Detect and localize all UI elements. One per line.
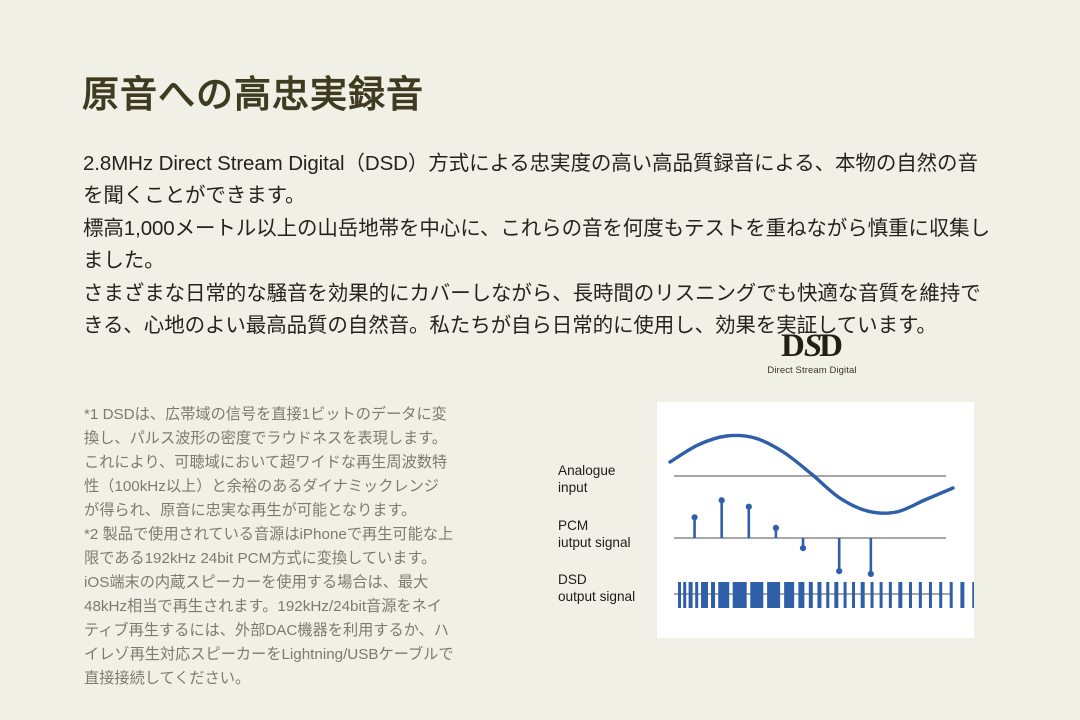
dsd-pulse-bar <box>861 582 865 608</box>
dsd-pulse-bar <box>929 582 932 608</box>
dsd-pulse-bar <box>834 582 838 608</box>
pcm-sample-dot <box>773 525 779 531</box>
page-title: 原音への高忠実録音 <box>82 73 424 117</box>
dsd-pulse-bar <box>711 582 715 608</box>
dsd-pulse-bar <box>919 582 922 608</box>
dsd-pulse-bar <box>809 582 813 608</box>
legend-dsd-line2: output signal <box>558 588 635 605</box>
pcm-sample-dot <box>836 568 842 574</box>
body-paragraph-1: 2.8MHz Direct Stream Digital（DSD）方式による忠実… <box>83 148 991 213</box>
legend-dsd-signal: DSD output signal <box>558 571 635 606</box>
footnote-1: *1 DSDは、広帯域の信号を直接1ビットのデータに変換し、パルス波形の密度でラ… <box>84 403 454 523</box>
legend-analogue-line2: input <box>558 479 615 496</box>
dsd-logo-letter-s: S <box>804 328 820 364</box>
dsd-pulse-bar <box>784 582 794 608</box>
pcm-sample-dot <box>746 504 752 510</box>
signal-diagram-card <box>657 402 974 638</box>
pcm-sample-dot <box>800 545 806 551</box>
body-copy: 2.8MHz Direct Stream Digital（DSD）方式による忠実… <box>83 148 991 342</box>
dsd-pulse-bar <box>871 582 874 608</box>
pcm-sample-dot <box>719 497 725 503</box>
dsd-logo-letter-d2: D <box>819 328 843 364</box>
dsd-pulse-bar <box>826 582 829 608</box>
dsd-pulse-bar <box>972 582 974 608</box>
dsd-pulse-bar <box>817 582 821 608</box>
dsd-pulse-bar <box>960 582 964 608</box>
pcm-sample-dot <box>691 514 697 520</box>
slide-canvas: 原音への高忠実録音 2.8MHz Direct Stream Digital（D… <box>0 0 1080 720</box>
dsd-pulse-bar <box>798 582 804 608</box>
dsd-pulse-bar <box>689 582 693 608</box>
dsd-pulse-bar <box>950 582 953 608</box>
dsd-pulse-bar <box>695 582 698 608</box>
footnotes: *1 DSDは、広帯域の信号を直接1ビットのデータに変換し、パルス波形の密度でラ… <box>84 403 454 691</box>
dsd-logo-mark: DSD <box>757 330 867 363</box>
body-paragraph-2: 標高1,000メートル以上の山岳地帯を中心に、これらの音を何度もテストを重ねなが… <box>83 213 991 278</box>
dsd-logo-tagline: Direct Stream Digital <box>757 365 867 376</box>
dsd-pulse-bar <box>750 582 763 608</box>
signal-diagram-svg <box>657 402 974 638</box>
legend-dsd-line1: DSD <box>558 571 635 588</box>
dsd-pulse-bar <box>898 582 902 608</box>
dsd-pulse-bar <box>844 582 847 608</box>
dsd-pulse-bar <box>683 582 686 608</box>
dsd-pulse-bar <box>889 582 892 608</box>
legend-pcm-line2: iutput signal <box>558 534 631 551</box>
legend-pcm-line1: PCM <box>558 517 631 534</box>
dsd-pulse-bar <box>718 582 729 608</box>
footnote-2: *2 製品で使用されている音源はiPhoneで再生可能な上限である192kHz … <box>84 523 454 691</box>
legend-analogue-input: Analogue input <box>558 462 615 497</box>
pcm-sample-dot <box>868 571 874 577</box>
dsd-logo: DSD Direct Stream Digital <box>757 330 867 376</box>
dsd-pulse-bar <box>767 582 780 608</box>
dsd-pulse-bar <box>733 582 747 608</box>
legend-analogue-line1: Analogue <box>558 462 615 479</box>
legend-pcm-signal: PCM iutput signal <box>558 517 631 552</box>
dsd-pulse-bar <box>939 582 942 608</box>
dsd-pulse-bar <box>852 582 855 608</box>
dsd-logo-letter-d1: D <box>781 328 805 364</box>
dsd-pulse-bar <box>678 582 681 608</box>
dsd-pulse-bar <box>701 582 708 608</box>
dsd-pulse-bar <box>909 582 912 608</box>
dsd-pulse-bar <box>880 582 883 608</box>
